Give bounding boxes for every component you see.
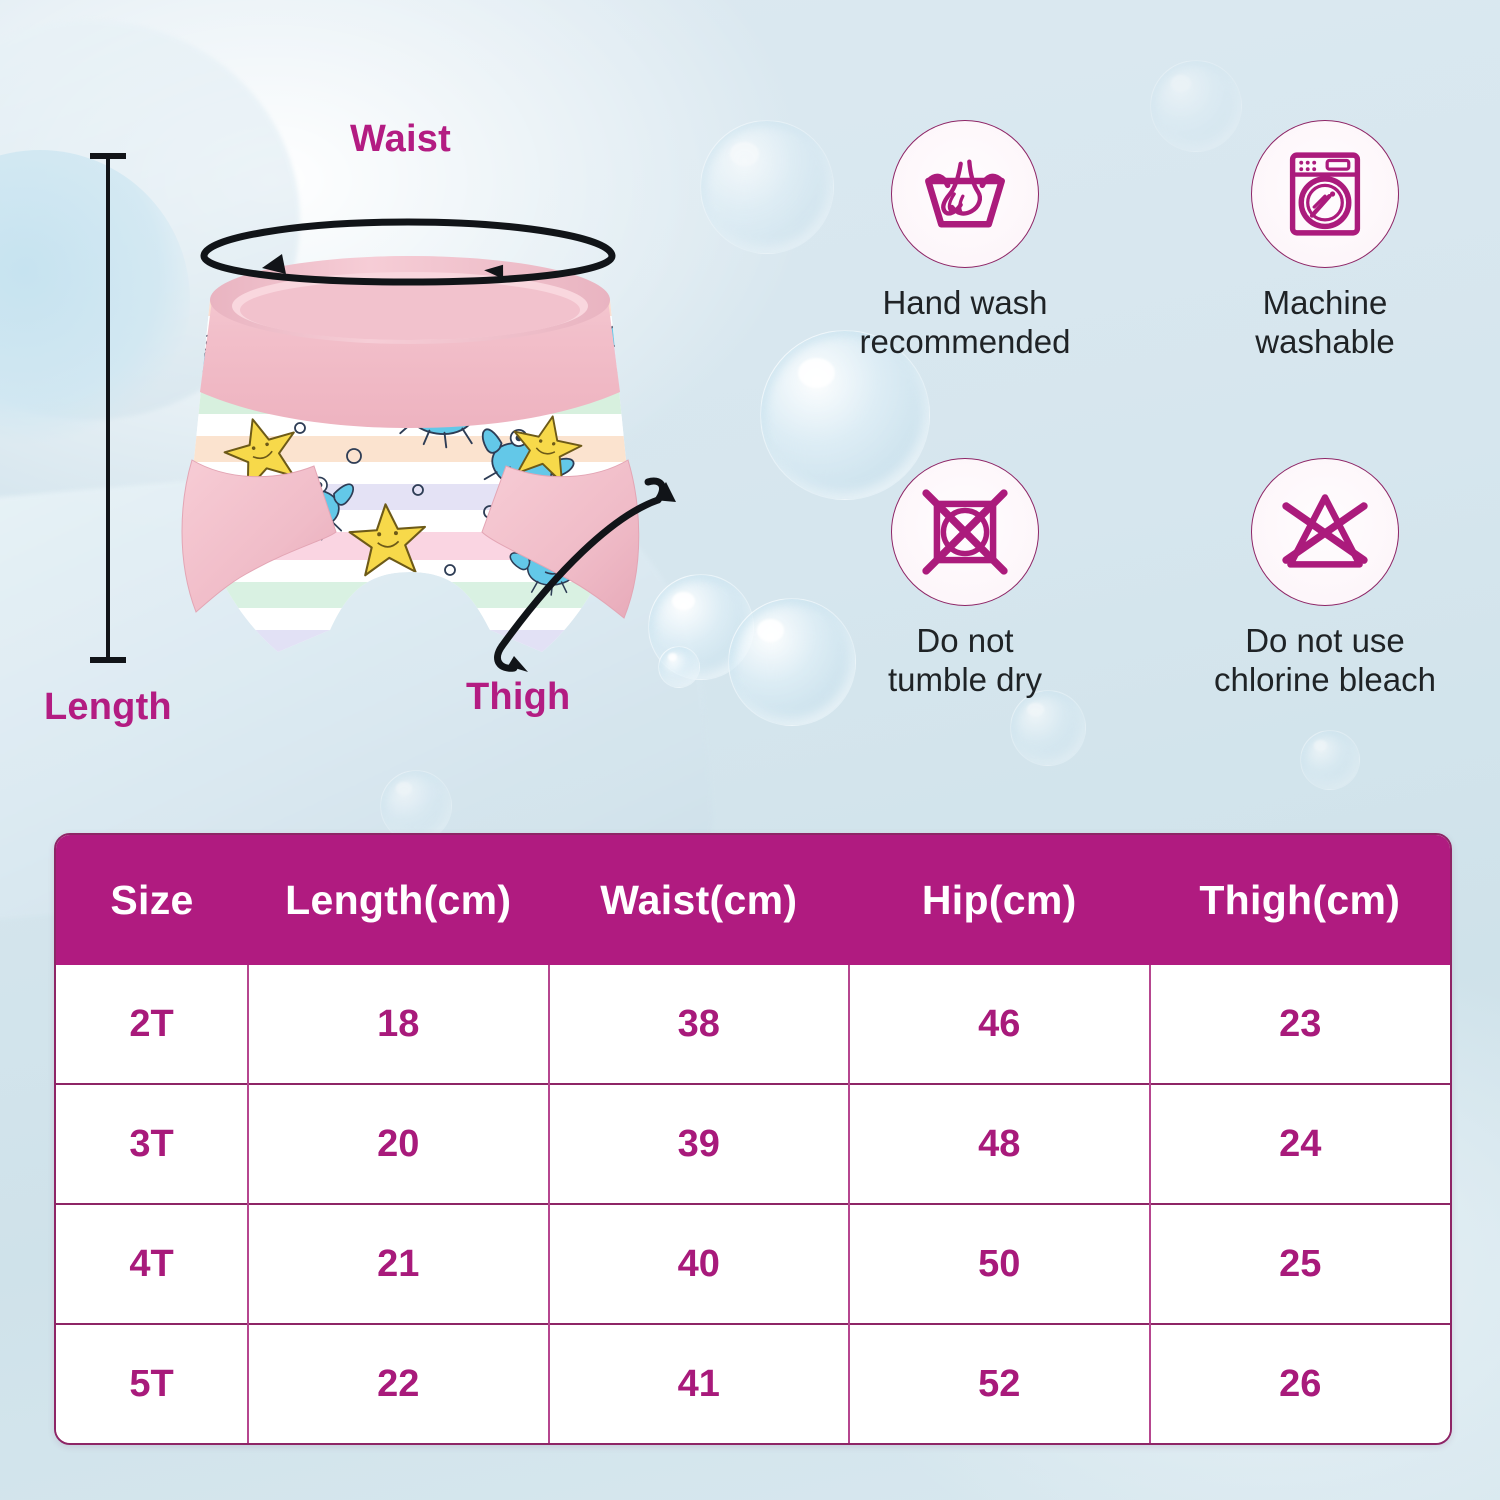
hand-wash-icon (891, 120, 1039, 268)
cell-hip: 46 (849, 965, 1150, 1084)
machine-wash-icon (1251, 120, 1399, 268)
bubble-icon (700, 120, 834, 254)
cell-hip: 48 (849, 1084, 1150, 1204)
length-label: Length (44, 686, 172, 729)
cell-length: 21 (248, 1204, 549, 1324)
table-row: 3T 20 39 48 24 (56, 1084, 1450, 1204)
care-line-1: Hand wash (815, 284, 1115, 323)
care-instructions-group: Hand wash recommended (815, 120, 1475, 740)
cell-waist: 41 (549, 1324, 850, 1443)
cell-waist: 40 (549, 1204, 850, 1324)
waist-label: Waist (350, 118, 451, 161)
care-line-1: Machine (1175, 284, 1475, 323)
care-line-2: washable (1175, 323, 1475, 362)
column-header-length: Length(cm) (248, 835, 549, 965)
bubble-icon (380, 770, 452, 842)
cell-thigh: 25 (1150, 1204, 1451, 1324)
care-item-label: Hand wash recommended (815, 284, 1115, 362)
column-header-hip: Hip(cm) (849, 835, 1150, 965)
column-header-waist: Waist(cm) (549, 835, 850, 965)
cell-length: 20 (248, 1084, 549, 1204)
cell-length: 22 (248, 1324, 549, 1443)
table-row: 2T 18 38 46 23 (56, 965, 1450, 1084)
care-line-2: tumble dry (815, 661, 1115, 700)
cell-length: 18 (248, 965, 549, 1084)
cell-thigh: 23 (1150, 965, 1451, 1084)
table-header-row: Size Length(cm) Waist(cm) Hip(cm) Thigh(… (56, 835, 1450, 965)
care-line-2: chlorine bleach (1175, 661, 1475, 700)
cell-size: 3T (56, 1084, 248, 1204)
waist-measurement-arrow (186, 208, 626, 300)
care-line-2: recommended (815, 323, 1115, 362)
size-chart-infographic: Waist Length Thigh Hand wash recommended (0, 0, 1500, 1500)
care-item-no-bleach: Do not use chlorine bleach (1175, 458, 1475, 700)
cell-thigh: 26 (1150, 1324, 1451, 1443)
length-measurement-line (86, 148, 130, 668)
care-item-no-tumble-dry: Do not tumble dry (815, 458, 1115, 700)
care-item-label: Do not use chlorine bleach (1175, 622, 1475, 700)
table-row: 5T 22 41 52 26 (56, 1324, 1450, 1443)
care-line-1: Do not use (1175, 622, 1475, 661)
cell-size: 4T (56, 1204, 248, 1324)
cell-size: 5T (56, 1324, 248, 1443)
cell-thigh: 24 (1150, 1084, 1451, 1204)
cell-waist: 38 (549, 965, 850, 1084)
care-item-machine-wash: Machine washable (1175, 120, 1475, 362)
column-header-thigh: Thigh(cm) (1150, 835, 1451, 965)
thigh-measurement-arrow (462, 470, 692, 685)
no-tumble-dry-icon (891, 458, 1039, 606)
cell-hip: 50 (849, 1204, 1150, 1324)
cell-waist: 39 (549, 1084, 850, 1204)
care-item-label: Do not tumble dry (815, 622, 1115, 700)
care-item-label: Machine washable (1175, 284, 1475, 362)
table-row: 4T 21 40 50 25 (56, 1204, 1450, 1324)
column-header-size: Size (56, 835, 248, 965)
care-item-hand-wash: Hand wash recommended (815, 120, 1115, 362)
thigh-label: Thigh (466, 676, 570, 719)
size-chart-table: Size Length(cm) Waist(cm) Hip(cm) Thigh(… (54, 833, 1452, 1445)
cell-hip: 52 (849, 1324, 1150, 1443)
cell-size: 2T (56, 965, 248, 1084)
care-line-1: Do not (815, 622, 1115, 661)
no-bleach-icon (1251, 458, 1399, 606)
